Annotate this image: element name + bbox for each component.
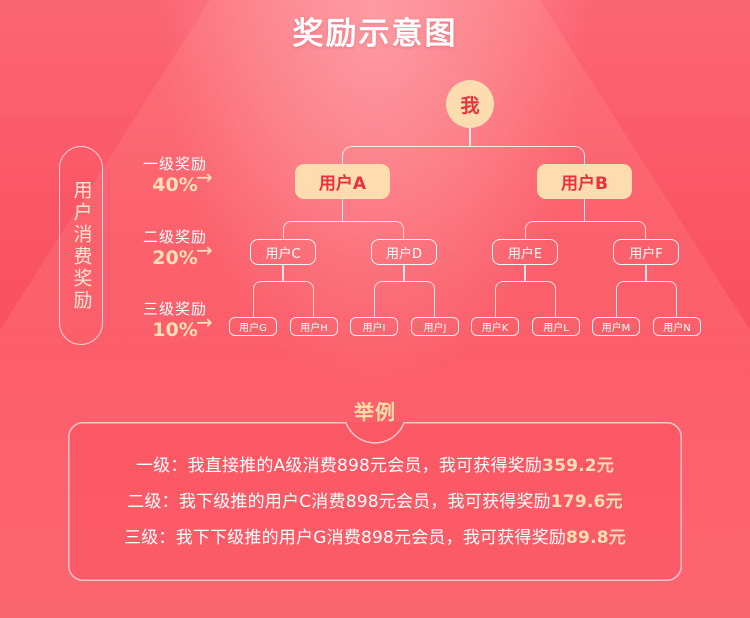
tree-node-user-n[interactable]: 用户N: [653, 317, 701, 336]
connector-c-to-children: [253, 281, 314, 317]
example-panel: 举例 一级：我直接推的A级消费898元会员，我可获得奖励359.2元 二级：我下…: [68, 422, 682, 581]
tree-node-label: 用户B: [561, 169, 608, 194]
arrow-right-icon: →: [196, 240, 213, 260]
tree-node-user-k[interactable]: 用户K: [471, 317, 519, 336]
tier-2-percent: 20%: [110, 247, 240, 270]
example-line: 一级：我直接推的A级消费898元会员，我可获得奖励359.2元: [86, 448, 664, 484]
tree-node-label: 用户C: [265, 243, 300, 262]
user-spend-reward-label: 用户消费奖励: [59, 146, 103, 345]
tree-node-label: 用户M: [602, 319, 631, 334]
tree-node-user-e[interactable]: 用户E: [492, 239, 558, 265]
page-title: 奖励示意图: [0, 8, 750, 53]
tree-node-root-label: 我: [460, 91, 479, 118]
tree-node-user-g[interactable]: 用户G: [229, 317, 277, 336]
arrow-right-icon: →: [196, 167, 213, 187]
example-line-text: 一级：我直接推的A级消费898元会员，我可获得奖励: [136, 456, 542, 476]
user-spend-reward-label-text: 用户消费奖励: [72, 180, 91, 312]
tree-node-user-f[interactable]: 用户F: [613, 239, 679, 265]
connector-e-to-children: [495, 281, 556, 317]
example-line-amount: 89.8元: [566, 528, 626, 548]
example-line-amount: 179.6元: [551, 492, 623, 512]
example-line-text: 二级：我下级推的用户C消费898元会员，我可获得奖励: [127, 492, 551, 512]
tier-row-level-3: 三级奖励 10% →: [110, 300, 240, 342]
connector-d-to-children: [374, 281, 435, 317]
tree-node-label: 用户N: [663, 319, 690, 334]
connector-e-stem: [524, 265, 526, 281]
connector-root-stem: [469, 128, 471, 146]
tier-1-percent: 40%: [110, 174, 240, 197]
tree-node-user-h[interactable]: 用户H: [290, 317, 338, 336]
tree-node-user-l[interactable]: 用户L: [532, 317, 580, 336]
tree-node-user-c[interactable]: 用户C: [250, 239, 316, 265]
example-line-text: 三级：我下下级推的用户G消费898元会员，我可获得奖励: [124, 528, 566, 548]
tier-row-level-1: 一级奖励 40% →: [110, 155, 240, 197]
tree-node-user-m[interactable]: 用户M: [592, 317, 640, 336]
arrow-right-icon: →: [196, 312, 213, 332]
tree-node-label: 用户D: [386, 243, 422, 262]
tier-2-name: 二级奖励: [110, 228, 240, 247]
example-line-amount: 359.2元: [542, 456, 614, 476]
tier-3-percent: 10%: [110, 319, 240, 342]
connector-c-stem: [282, 265, 284, 281]
tree-node-label: 用户F: [629, 243, 662, 262]
tree-node-root[interactable]: 我: [446, 80, 494, 128]
tree-node-user-b[interactable]: 用户B: [537, 164, 632, 199]
example-line-list: 一级：我直接推的A级消费898元会员，我可获得奖励359.2元 二级：我下级推的…: [68, 448, 682, 556]
example-line: 三级：我下下级推的用户G消费898元会员，我可获得奖励89.8元: [86, 520, 664, 556]
tree-node-user-d[interactable]: 用户D: [371, 239, 437, 265]
connector-d-stem: [403, 265, 405, 281]
connector-f-to-children: [616, 281, 677, 317]
connector-root-to-level1: [342, 146, 585, 164]
tree-node-user-a[interactable]: 用户A: [295, 164, 390, 199]
connector-a-to-children: [283, 221, 404, 239]
connector-f-stem: [645, 265, 647, 281]
reward-diagram-page: 奖励示意图 用户消费奖励 一级奖励 40% → 二级奖励 20% → 三级奖励 …: [0, 0, 750, 618]
tier-row-level-2: 二级奖励 20% →: [110, 228, 240, 270]
tree-node-label: 用户A: [319, 169, 366, 194]
tree-node-label: 用户J: [424, 319, 447, 334]
tree-node-user-i[interactable]: 用户I: [350, 317, 398, 336]
connector-a-stem: [342, 199, 344, 221]
connector-b-to-children: [525, 221, 646, 239]
connector-b-stem: [584, 199, 586, 221]
tree-node-label: 用户E: [508, 243, 542, 262]
example-badge: 举例: [68, 396, 682, 425]
tree-node-label: 用户L: [543, 319, 569, 334]
tree-node-label: 用户K: [482, 319, 509, 334]
tree-node-user-j[interactable]: 用户J: [411, 317, 459, 336]
tree-node-label: 用户H: [300, 319, 328, 334]
tier-1-name: 一级奖励: [110, 155, 240, 174]
tree-node-label: 用户G: [239, 319, 267, 334]
tier-3-name: 三级奖励: [110, 300, 240, 319]
example-line: 二级：我下级推的用户C消费898元会员，我可获得奖励179.6元: [86, 484, 664, 520]
tree-node-label: 用户I: [363, 319, 386, 334]
